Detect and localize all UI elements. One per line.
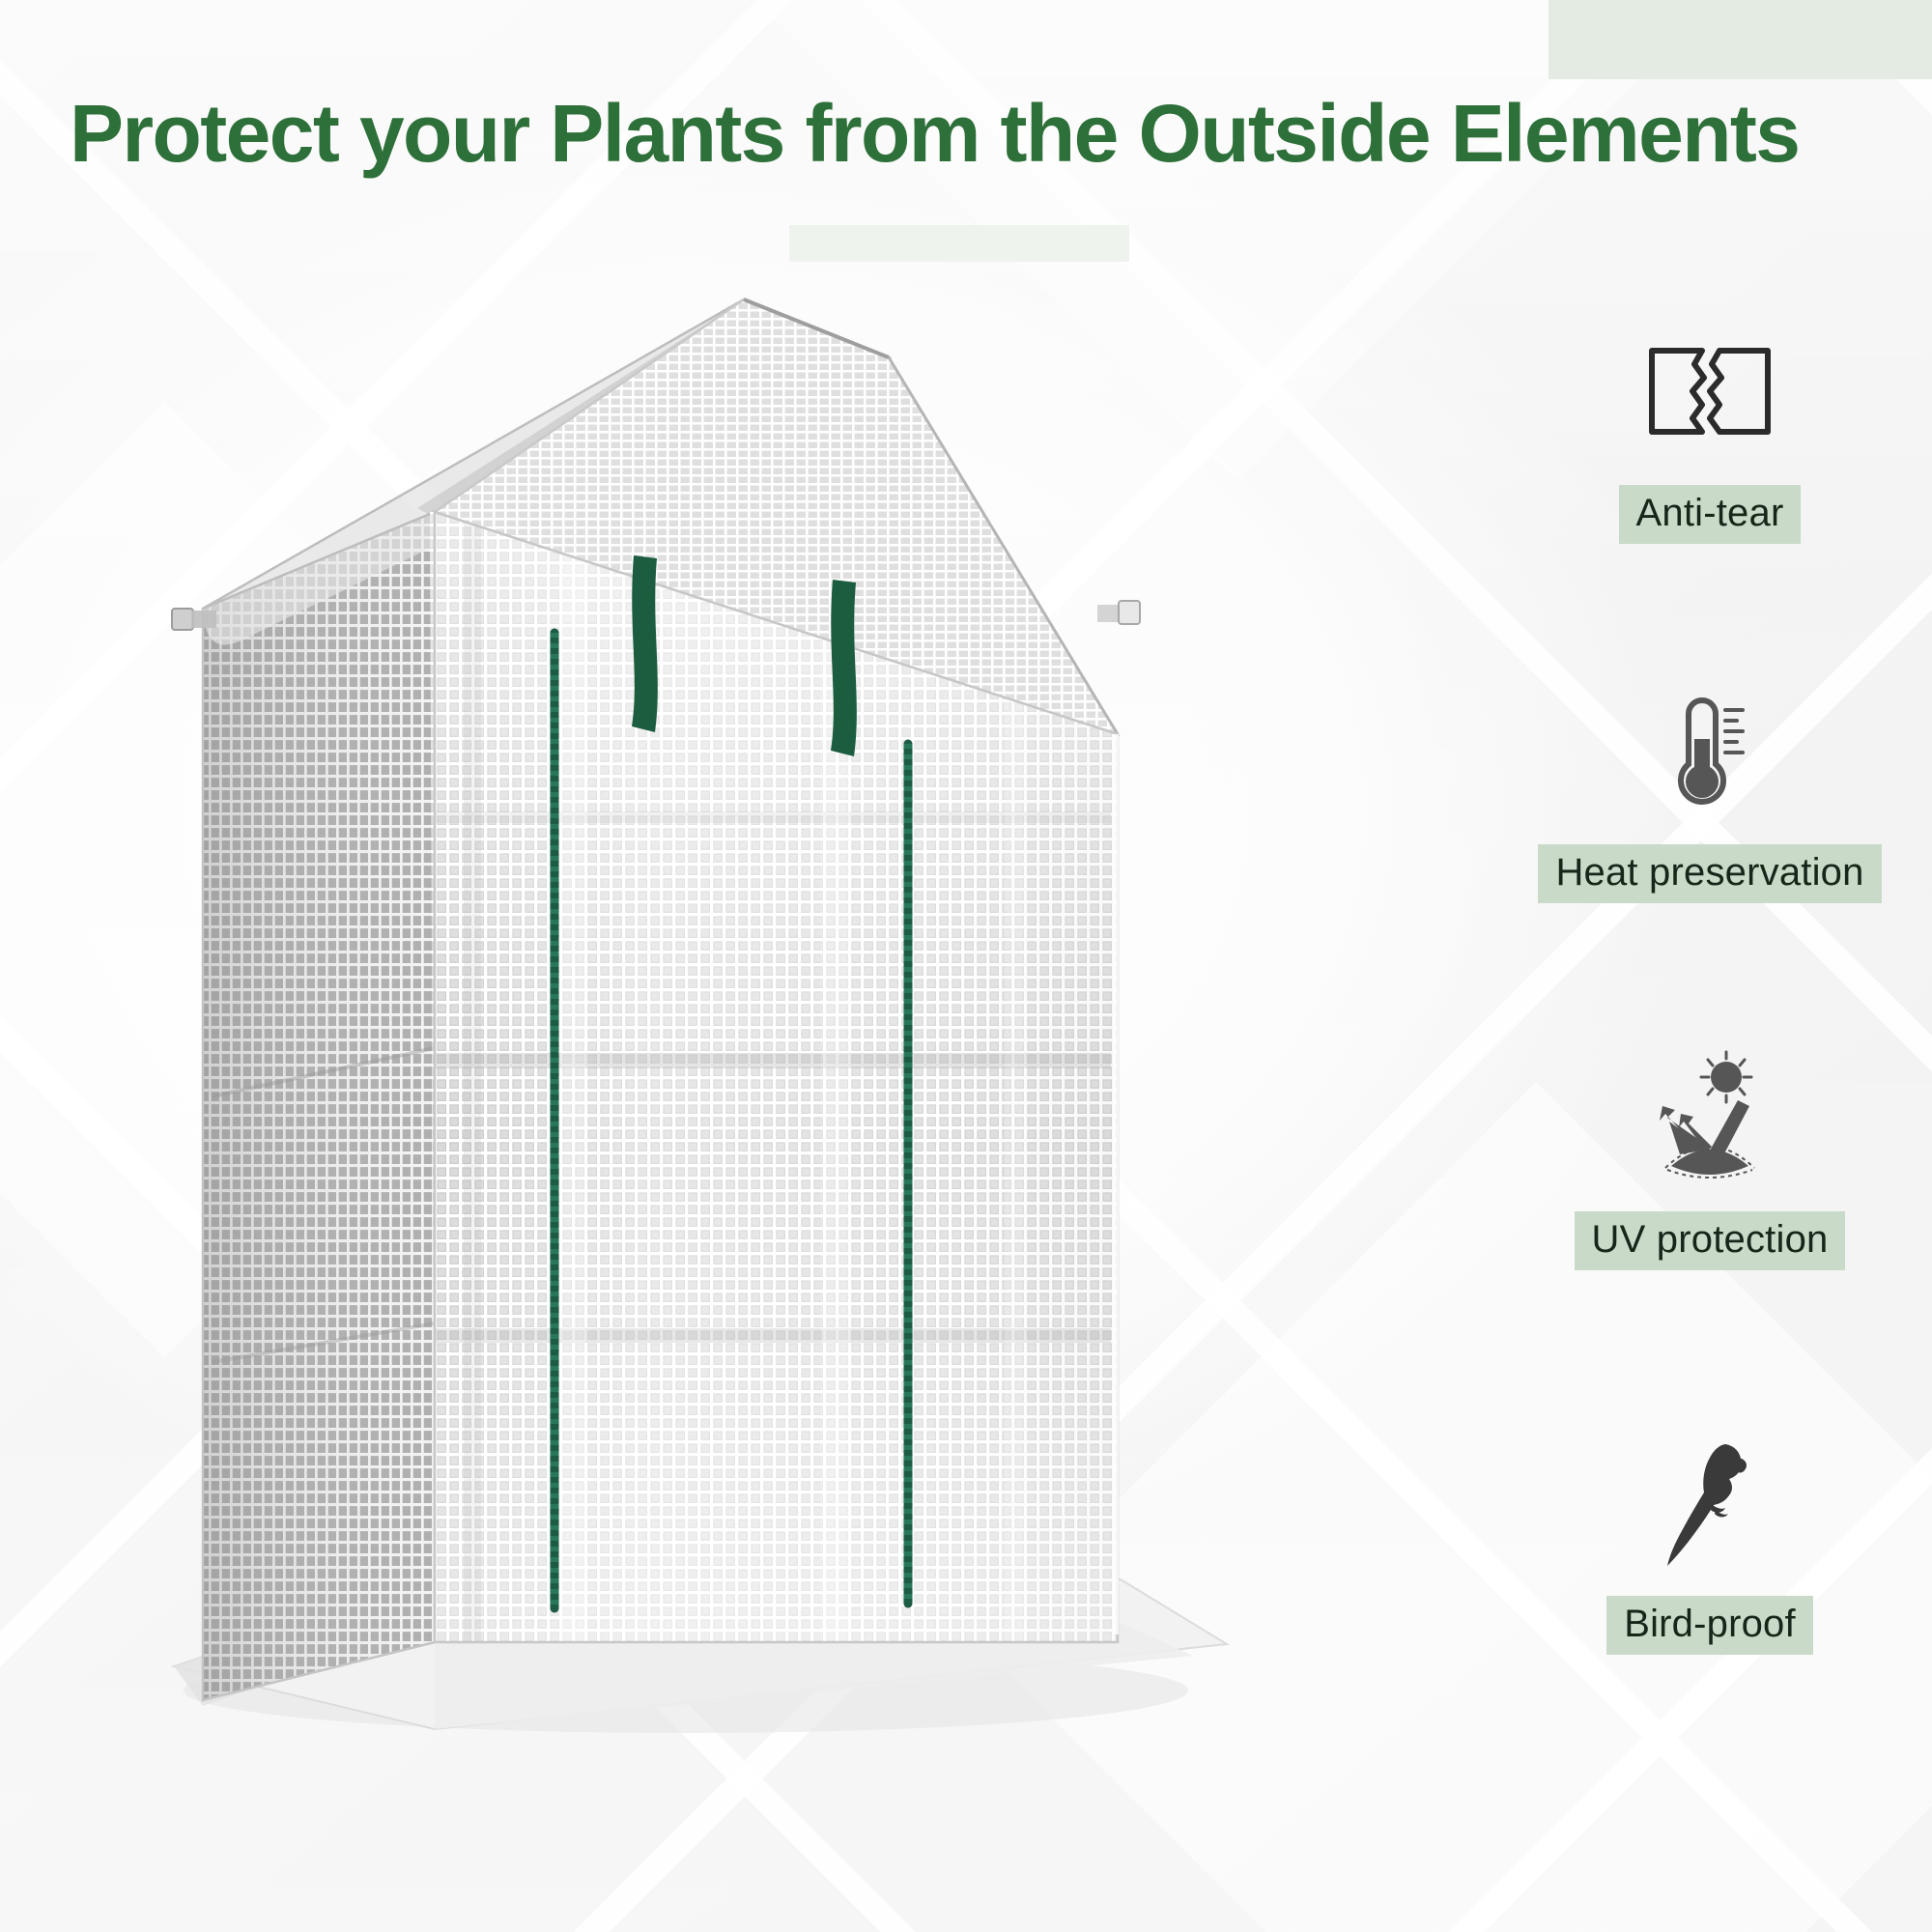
roll-up-strap-left bbox=[632, 555, 658, 732]
sun-uv-shield-icon bbox=[1488, 1045, 1932, 1190]
product-image bbox=[145, 222, 1304, 1826]
feature-label-row: Bird-proof bbox=[1488, 1596, 1932, 1655]
side-panel bbox=[203, 512, 435, 1700]
feature-label-row: UV protection bbox=[1488, 1211, 1932, 1270]
tie-loop-left bbox=[172, 609, 216, 630]
bird-silhouette-icon bbox=[1488, 1430, 1932, 1575]
thermometer-icon bbox=[1488, 678, 1932, 823]
feature-label-row: Heat preservation bbox=[1488, 844, 1932, 903]
feature-list: Anti-tear Heat bbox=[1488, 319, 1932, 1739]
feature-item-uv-protection: UV protection bbox=[1488, 1045, 1932, 1270]
tie-loop-right bbox=[1097, 601, 1140, 624]
page-title: Protect your Plants from the Outside Ele… bbox=[70, 93, 1866, 174]
roll-up-strap-right bbox=[831, 580, 857, 756]
feature-item-bird-proof: Bird-proof bbox=[1488, 1430, 1932, 1655]
tear-resistant-fabric-icon bbox=[1488, 319, 1932, 464]
feature-item-heat-preservation: Heat preservation bbox=[1488, 678, 1932, 903]
feature-item-anti-tear: Anti-tear bbox=[1488, 319, 1932, 544]
feature-label: UV protection bbox=[1575, 1211, 1846, 1270]
feature-label: Bird-proof bbox=[1606, 1596, 1813, 1655]
feature-label: Heat preservation bbox=[1538, 844, 1881, 903]
feature-label-row: Anti-tear bbox=[1488, 485, 1932, 544]
corner-accent-block bbox=[1548, 0, 1932, 79]
feature-label: Anti-tear bbox=[1619, 485, 1802, 544]
